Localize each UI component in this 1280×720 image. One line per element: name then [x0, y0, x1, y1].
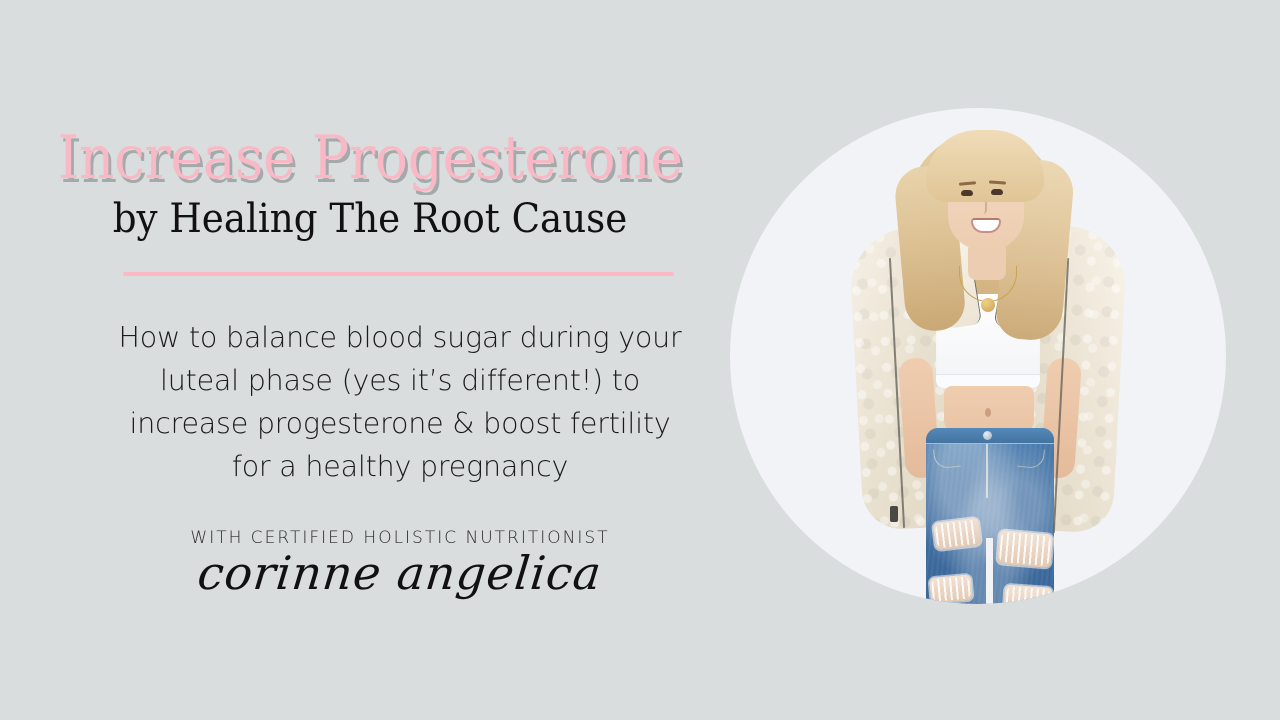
body-copy: How to balance blood sugar during your l… — [70, 316, 730, 488]
headline-block: Increase Progesterone by Healing The Roo… — [0, 128, 740, 240]
presenter-signature: corinne angelica — [196, 550, 604, 596]
jeans-rip — [929, 574, 973, 604]
presenter-photo — [730, 108, 1226, 604]
navel — [985, 408, 991, 417]
jeans-fly — [986, 444, 988, 498]
necklace-pendant — [981, 298, 995, 312]
eye-left — [961, 190, 973, 196]
text-column: Increase Progesterone by Healing The Roo… — [0, 0, 740, 720]
jeans-rip — [997, 530, 1054, 569]
rip-threads — [999, 532, 1051, 566]
hair-crown — [926, 130, 1044, 202]
jeans-button — [983, 431, 992, 440]
body-copy-line: luteal phase (yes it’s different!) to — [70, 359, 730, 402]
portrait-illustration — [730, 108, 1226, 604]
jeans-rip — [932, 517, 981, 550]
body-copy-line: How to balance blood sugar during your — [70, 316, 730, 359]
presentation-slide: Increase Progesterone by Healing The Roo… — [0, 0, 1280, 720]
page-subtitle: by Healing The Root Cause — [26, 198, 714, 240]
rip-threads — [935, 520, 980, 549]
page-title: Increase Progesterone — [30, 128, 711, 188]
jacket-zipper-pull — [890, 506, 898, 522]
nose — [981, 202, 987, 214]
credit-block: WITH CERTIFIED HOLISTIC NUTRITIONIST cor… — [0, 528, 800, 596]
divider — [123, 272, 674, 276]
credit-kicker: WITH CERTIFIED HOLISTIC NUTRITIONIST — [0, 528, 800, 548]
body-copy-line: increase progesterone & boost fertility — [70, 402, 730, 445]
rip-threads — [1005, 586, 1051, 604]
rip-threads — [931, 576, 971, 601]
jeans-leg-gap — [986, 538, 993, 604]
jeans-rip — [1003, 584, 1053, 604]
body-copy-line: for a healthy pregnancy — [70, 445, 730, 488]
eye-right — [991, 189, 1003, 195]
